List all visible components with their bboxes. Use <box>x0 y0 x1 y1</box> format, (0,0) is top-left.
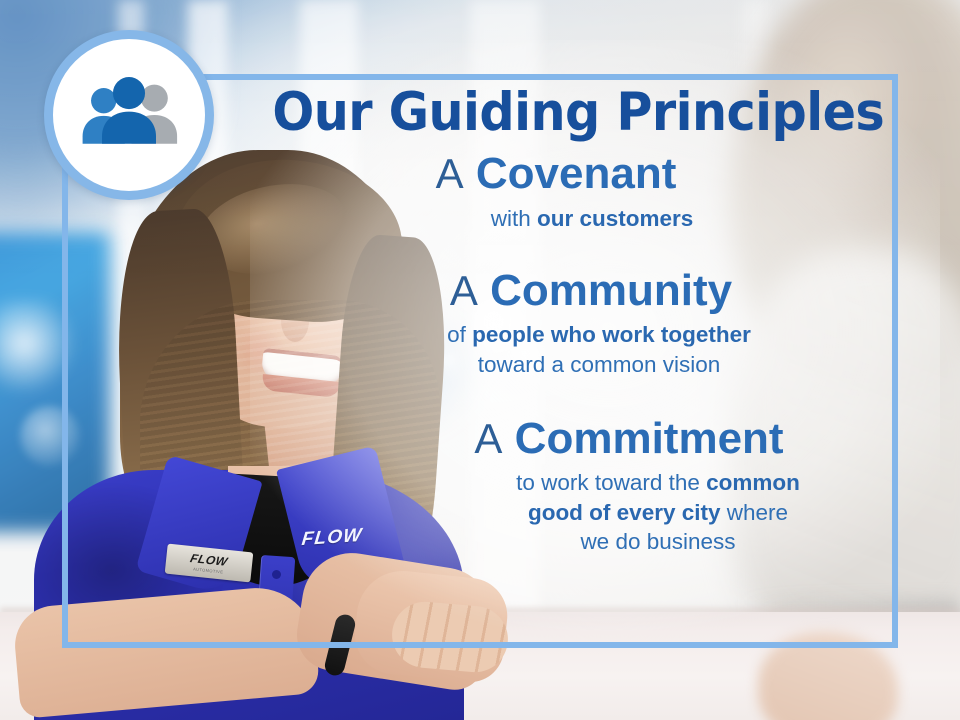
subtext-emphasis: common <box>706 470 800 495</box>
principle-subtext: of people who work together toward a com… <box>250 320 890 379</box>
subtext-line: of people who work together <box>308 320 890 349</box>
subtext-line: toward a common vision <box>308 350 890 379</box>
subtext-emphasis: people who work together <box>472 322 751 347</box>
subtext-emphasis: good of every city <box>528 500 721 525</box>
principle-community: A Community of people who work together … <box>250 267 890 379</box>
principle-heading: A Covenant <box>250 150 890 198</box>
people-group-icon <box>44 30 214 200</box>
principle-article: A <box>450 267 478 314</box>
guiding-principles-poster: FLOW AUTOMOTIVE FLOW <box>0 0 960 720</box>
principle-keyword: Covenant <box>476 149 676 198</box>
page-title: Our Guiding Principles <box>272 86 867 140</box>
principle-covenant: A Covenant with our customers <box>250 150 890 233</box>
principle-article: A <box>474 415 502 462</box>
principle-subtext: to work toward the common good of every … <box>250 468 890 556</box>
subtext-line: we do business <box>426 527 890 556</box>
principle-heading: A Community <box>250 267 890 315</box>
principle-heading: A Commitment <box>250 415 890 463</box>
subtext-line: with our customers <box>491 206 694 231</box>
text-column: Our Guiding Principles A Covenant with o… <box>250 78 890 644</box>
subtext-line: good of every city where <box>426 498 890 527</box>
subtext-line: to work toward the common <box>426 468 890 497</box>
principle-subtext: with our customers <box>250 204 890 233</box>
principle-commitment: A Commitment to work toward the common g… <box>250 415 890 556</box>
principle-keyword: Community <box>490 266 732 315</box>
name-badge-logo: FLOW <box>189 552 229 568</box>
principle-article: A <box>436 150 464 197</box>
subtext-emphasis: our customers <box>537 206 693 231</box>
principle-keyword: Commitment <box>515 414 784 463</box>
